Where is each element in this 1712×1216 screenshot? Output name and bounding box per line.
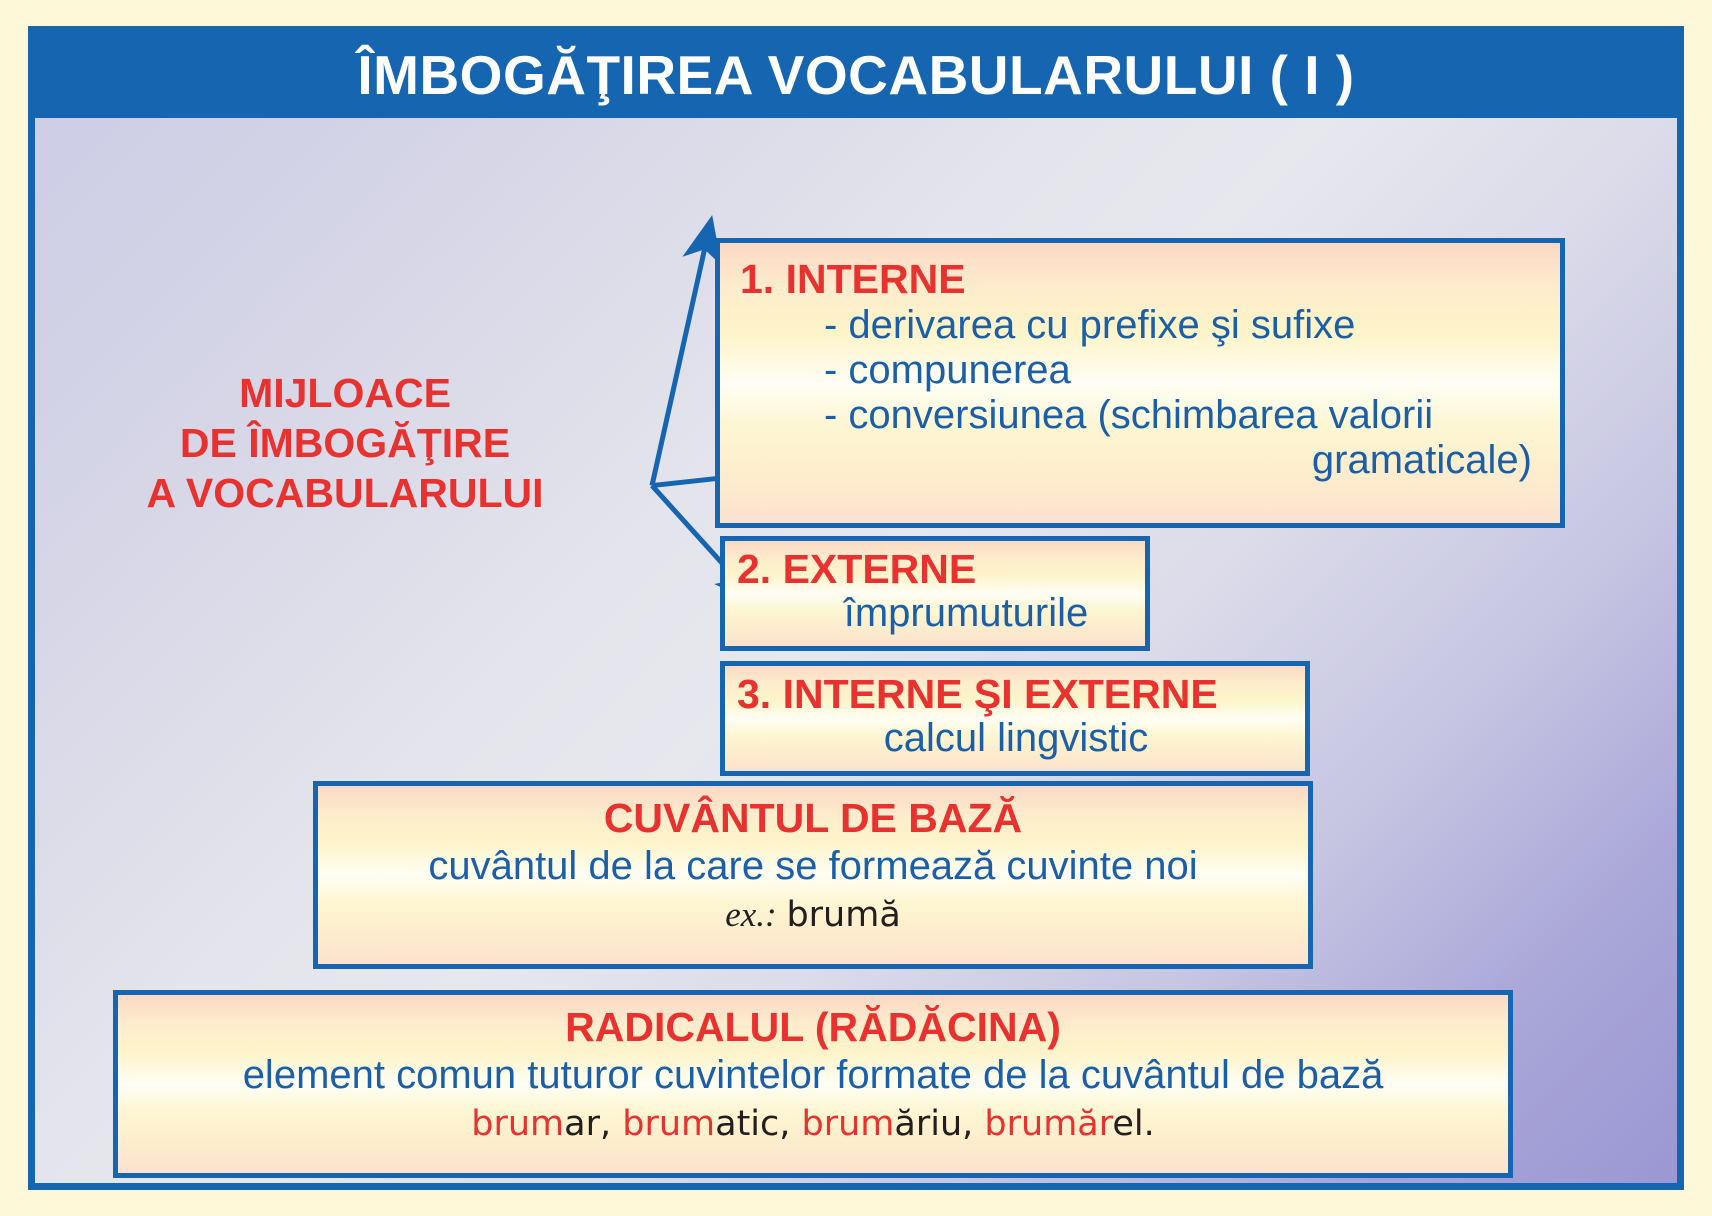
box-cuvant-example-word: brumă <box>786 895 900 935</box>
example-root: brum <box>802 1104 895 1144</box>
example-suffix: ar, <box>564 1104 622 1144</box>
box-interne-item-3: - conversiunea (schimbarea valorii <box>824 393 1542 438</box>
box-radical-examples: brumar, brumatic, brumăriu, brumărel. <box>128 1104 1498 1144</box>
diagram-stage: MIJLOACE DE ÎMBOGĂŢIRE A VOCABULARULUI 1… <box>35 118 1677 1183</box>
box-mixte-heading: 3. INTERNE ŞI EXTERNE <box>737 672 1295 716</box>
box-mixte: 3. INTERNE ŞI EXTERNE calcul lingvistic <box>720 661 1310 776</box>
example-suffix: ăriu, <box>894 1104 984 1144</box>
box-mixte-subtitle: calcul lingvistic <box>737 716 1295 761</box>
box-cuvant-example-label: ex.: <box>725 895 776 934</box>
source-label-line-3: A VOCABULARULUI <box>95 468 595 518</box>
slide-root: ÎMBOGĂŢIREA VOCABULARULUI ( I ) MIJLOACE <box>0 0 1712 1216</box>
box-cuvant-de-baza: CUVÂNTUL DE BAZĂ cuvântul de la care se … <box>313 781 1313 969</box>
source-label-line-1: MIJLOACE <box>95 368 595 418</box>
example-suffix: atic, <box>715 1104 801 1144</box>
box-interne-heading: 1. INTERNE <box>740 257 1542 301</box>
box-radical-heading: RADICALUL (RĂDĂCINA) <box>128 1005 1498 1049</box>
page-title: ÎMBOGĂŢIREA VOCABULARULUI ( I ) <box>357 48 1354 103</box>
box-radical: RADICALUL (RĂDĂCINA) element comun tutur… <box>113 990 1513 1178</box>
source-label: MIJLOACE DE ÎMBOGĂŢIRE A VOCABULARULUI <box>95 368 595 518</box>
box-interne: 1. INTERNE - derivarea cu prefixe şi suf… <box>715 238 1565 528</box>
box-externe-heading: 2. EXTERNE <box>737 547 1135 591</box>
source-label-line-2: DE ÎMBOGĂŢIRE <box>95 418 595 468</box>
box-externe-subtitle: împrumuturile <box>797 591 1135 636</box>
box-externe: 2. EXTERNE împrumuturile <box>720 536 1150 651</box>
box-radical-definition: element comun tuturor cuvintelor formate… <box>128 1053 1498 1098</box>
box-interne-item-3-cont: gramaticale) <box>734 438 1532 483</box>
example-root: brum <box>622 1104 715 1144</box>
example-root: brumăr <box>984 1104 1112 1144</box>
box-cuvant-heading: CUVÂNTUL DE BAZĂ <box>328 796 1298 840</box>
arrow-to-interne <box>652 220 711 485</box>
title-bar: ÎMBOGĂŢIREA VOCABULARULUI ( I ) <box>35 33 1677 118</box>
box-interne-item-1: - derivarea cu prefixe şi sufixe <box>824 303 1542 348</box>
slide-panel: ÎMBOGĂŢIREA VOCABULARULUI ( I ) MIJLOACE <box>28 26 1684 1190</box>
example-suffix: el. <box>1112 1104 1154 1144</box>
box-interne-item-2: - compunerea <box>824 348 1542 393</box>
box-cuvant-definition: cuvântul de la care se formează cuvinte … <box>328 844 1298 889</box>
example-root: brum <box>471 1104 564 1144</box>
box-cuvant-example: ex.: brumă <box>328 895 1298 935</box>
